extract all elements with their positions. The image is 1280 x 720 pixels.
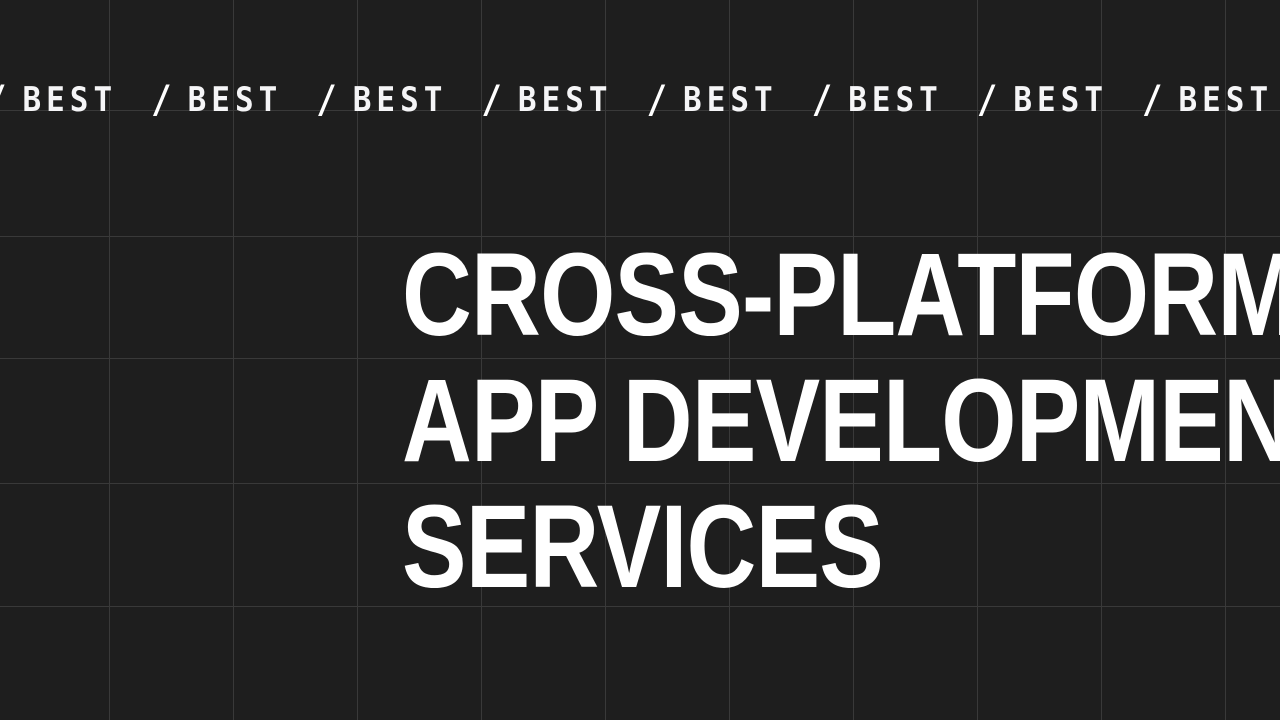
slash-icon: / [151, 81, 187, 119]
marquee-word: BEST [518, 83, 647, 117]
marquee-strip: / BEST / BEST / BEST / BEST / BEST / [0, 74, 1280, 126]
marquee-word: BEST [848, 83, 977, 117]
marquee-item: / BEST [151, 83, 316, 117]
marquee-word: BEST [1178, 83, 1280, 117]
marquee-item: / BEST [316, 83, 481, 117]
headline-line-2: APP DEVELOPMENT [402, 358, 1107, 484]
marquee-word: BEST [1013, 83, 1142, 117]
marquee-word: BEST [353, 83, 482, 117]
slash-icon: / [1142, 81, 1178, 119]
slash-icon: / [812, 81, 848, 119]
marquee-item: / BEST [977, 83, 1142, 117]
marquee-item: / BEST [0, 83, 151, 117]
marquee-item: / BEST [812, 83, 977, 117]
marquee-word: BEST [22, 83, 151, 117]
headline-line-3: SERVICES [402, 484, 1107, 610]
slash-icon: / [481, 81, 517, 119]
marquee-word: BEST [683, 83, 812, 117]
marquee-word: BEST [188, 83, 317, 117]
hero-banner: / BEST / BEST / BEST / BEST / BEST / [0, 0, 1280, 720]
marquee-item: / BEST [481, 83, 646, 117]
slash-icon: / [977, 81, 1013, 119]
marquee-track: / BEST / BEST / BEST / BEST / BEST / [0, 83, 1280, 117]
headline-line-1: CROSS-PLATFORM [402, 232, 1107, 358]
page-title: CROSS-PLATFORM APP DEVELOPMENT SERVICES [402, 232, 1262, 610]
slash-icon: / [316, 81, 352, 119]
marquee-item: / BEST [1142, 83, 1280, 117]
marquee-item: / BEST [647, 83, 812, 117]
slash-icon: / [0, 81, 22, 119]
slash-icon: / [647, 81, 683, 119]
